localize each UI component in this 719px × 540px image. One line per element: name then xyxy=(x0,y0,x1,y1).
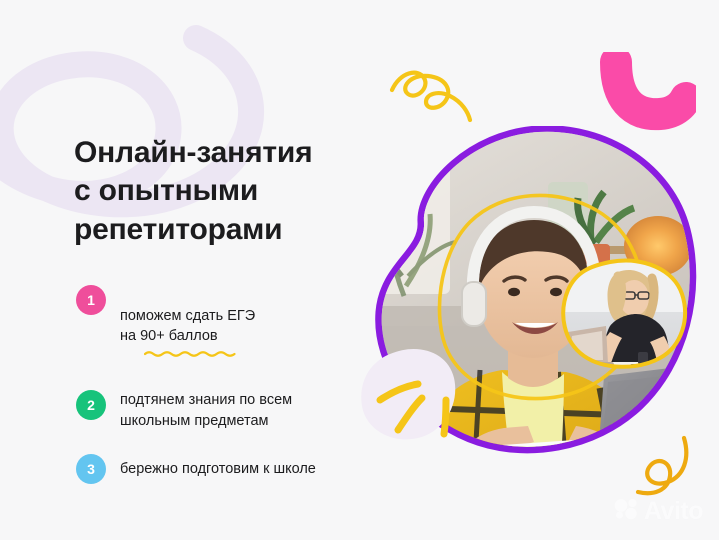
photo-composition xyxy=(352,126,704,478)
yellow-spiral-squiggle-icon xyxy=(388,62,480,129)
feature-text-3: бережно подготовим к школе xyxy=(120,453,316,480)
avito-wordmark: Avito xyxy=(644,497,703,526)
wavy-underline-icon xyxy=(144,322,238,363)
feature-text-2: подтянем знания по всем школьным предмет… xyxy=(120,389,292,431)
list-item: 3 бережно подготовим к школе xyxy=(76,453,376,484)
list-item: 1 поможем сдать ЕГЭ на 90+ баллов xyxy=(76,284,376,367)
list-item: 2 подтянем знания по всем школьным предм… xyxy=(76,389,376,431)
avito-watermark: Avito xyxy=(614,497,703,526)
feature-badge-3: 3 xyxy=(76,454,106,484)
promo-banner: Онлайн-занятия с опытными репетиторами 1… xyxy=(0,0,719,540)
avito-logo-icon xyxy=(614,497,641,526)
feature-badge-2: 2 xyxy=(76,390,106,420)
page-title: Онлайн-занятия с опытными репетиторами xyxy=(74,134,364,249)
feature-badge-1: 1 xyxy=(76,285,106,315)
feature-text-1: поможем сдать ЕГЭ на 90+ баллов xyxy=(120,284,255,367)
feature-list: 1 поможем сдать ЕГЭ на 90+ баллов 2 подт… xyxy=(76,284,376,506)
